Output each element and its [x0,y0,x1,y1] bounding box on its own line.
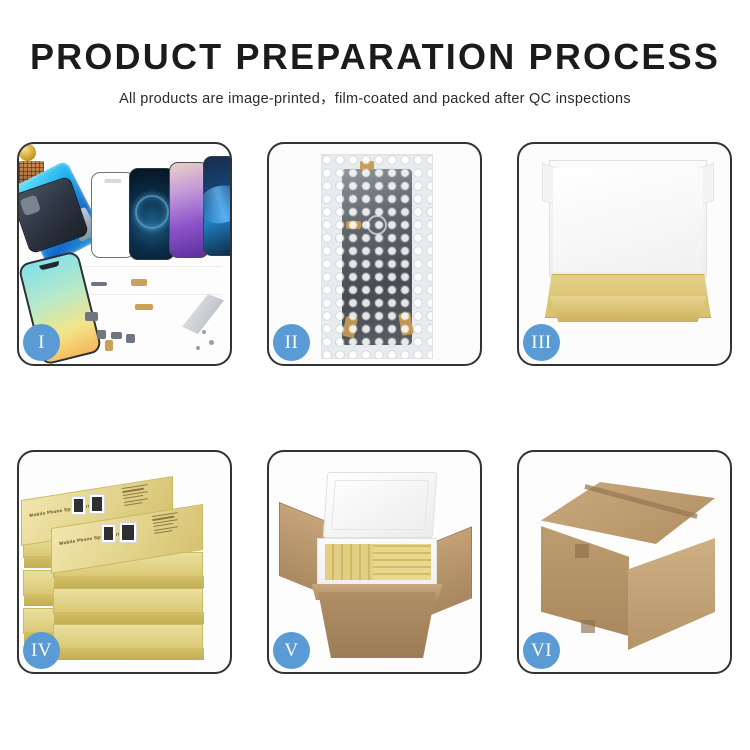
carton-body [313,592,441,658]
box-art-screen [71,496,86,515]
step-badge-1: I [23,324,60,361]
packed-yellow-boxes [373,544,431,580]
steps-grid: I II [17,142,733,674]
flex-cable [131,279,147,286]
small-part [91,282,107,286]
screw [209,340,214,345]
flex-cable [135,304,153,310]
step-badge-6: VI [523,632,560,669]
flex-cable [105,340,113,351]
step-badge-2: II [273,324,310,361]
step-badge-5: V [273,632,310,669]
step-card-6: VI [517,450,732,674]
step-badge-3: III [523,324,560,361]
page-title: PRODUCT PREPARATION PROCESS [0,38,750,76]
small-part [111,332,122,339]
camera-module-part [19,144,36,161]
stacked-box [53,588,203,614]
stacked-box [53,624,203,650]
box-art-screen [101,524,116,543]
step-card-5: V [267,450,482,674]
step-card-2: II [267,142,482,366]
carton-tab [575,544,589,558]
screw [202,330,206,334]
small-part [97,330,106,339]
carton-right-face [628,538,715,650]
screw [196,346,200,350]
foam-sheet [553,168,703,272]
small-part [126,334,135,343]
step-card-3: III [517,142,732,366]
product-preparation-infographic: PRODUCT PREPARATION PROCESS All products… [0,0,750,750]
blue-curve-phone [203,156,230,256]
bubble-texture [322,155,432,358]
header: PRODUCT PREPARATION PROCESS All products… [0,0,750,108]
repair-tool [182,294,224,334]
bubble-wrap-bag [321,154,433,359]
step-badge-4: IV [23,632,60,669]
step-card-4: Mobile Phone Spare Parts Mobile Phone Sp… [17,450,232,674]
step-card-1: I [17,142,232,366]
box-art-screen [89,494,105,514]
box-art-screen [119,522,137,543]
kraft-box-front [545,296,711,322]
foam-box-lid [323,472,438,538]
carton-tab [581,620,595,633]
page-subtitle: All products are image-printed，film-coat… [0,87,750,108]
small-part [85,312,98,321]
